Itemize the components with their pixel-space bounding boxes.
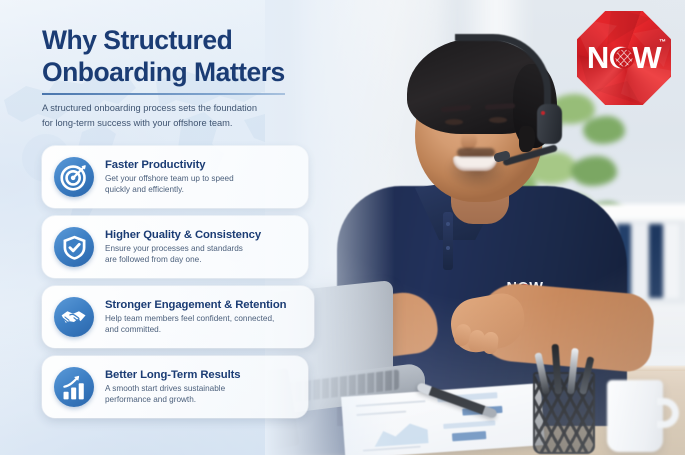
shield-check-icon <box>54 227 94 267</box>
logo-dot <box>614 48 635 69</box>
title-line-1: Why Structured <box>42 24 342 56</box>
subtitle-line-1: A structured onboarding process sets the… <box>42 101 297 116</box>
handshake-icon <box>54 297 94 337</box>
moustache <box>457 148 495 157</box>
title-line-2: Onboarding Matters <box>42 56 342 88</box>
growth-chart-icon <box>54 367 94 407</box>
eye-left <box>445 119 463 125</box>
card-description: Get your offshore team up to speed quick… <box>105 173 300 195</box>
title-divider <box>42 93 285 95</box>
page-title: Why Structured Onboarding Matters <box>42 24 342 88</box>
now-logo-badge[interactable]: NOW ™ <box>577 11 671 105</box>
target-icon <box>54 157 94 197</box>
card-text: Stronger Engagement & Retention Help tea… <box>105 299 314 336</box>
card-desc-line-2: are followed from day one. <box>105 254 300 265</box>
card-title: Better Long-Term Results <box>105 369 300 382</box>
smile <box>453 156 497 171</box>
subtitle-line-2: for long-term success with your offshore… <box>42 116 297 131</box>
card-description: Help team members feel confident, connec… <box>105 313 306 335</box>
card-desc-line-2: quickly and efficiently. <box>105 184 300 195</box>
coffee-mug <box>607 380 663 452</box>
subtitle: A structured onboarding process sets the… <box>42 101 297 130</box>
shirt-placket <box>443 212 453 270</box>
card-title: Higher Quality & Consistency <box>105 229 300 242</box>
card-description: Ensure your processes and standards are … <box>105 243 300 265</box>
card-desc-line-1: Ensure your processes and standards <box>105 243 300 254</box>
trademark-symbol: ™ <box>659 39 666 46</box>
card-desc-line-1: Get your offshore team up to speed <box>105 173 300 184</box>
infographic-canvas: NOW OFFSHORE SUPPORT <box>0 0 685 455</box>
logo-wordmark: NOW <box>577 43 671 73</box>
card-title: Stronger Engagement & Retention <box>105 299 306 312</box>
content-column: Why Structured Onboarding Matters A stru… <box>0 0 360 455</box>
card-desc-line-1: A smooth start drives sustainable <box>105 383 300 394</box>
eye-right <box>489 117 507 123</box>
card-text: Higher Quality & Consistency Ensure your… <box>105 229 308 266</box>
shirt-button <box>446 246 450 250</box>
benefit-card-better-results[interactable]: Better Long-Term Results A smooth start … <box>42 356 308 418</box>
headset-earcup <box>537 104 562 144</box>
card-desc-line-2: and committed. <box>105 324 306 335</box>
sideburn <box>519 126 535 152</box>
headset-band <box>455 34 551 114</box>
card-text: Faster Productivity Get your offshore te… <box>105 159 308 196</box>
benefit-card-higher-quality[interactable]: Higher Quality & Consistency Ensure your… <box>42 216 308 278</box>
benefit-card-stronger-engagement[interactable]: Stronger Engagement & Retention Help tea… <box>42 286 314 348</box>
pen-holder <box>533 372 595 454</box>
card-desc-line-2: performance and growth. <box>105 394 300 405</box>
benefit-card-faster-productivity[interactable]: Faster Productivity Get your offshore te… <box>42 146 308 208</box>
shirt-button <box>446 222 450 226</box>
card-text: Better Long-Term Results A smooth start … <box>105 369 308 406</box>
card-title: Faster Productivity <box>105 159 300 172</box>
card-desc-line-1: Help team members feel confident, connec… <box>105 313 306 324</box>
card-description: A smooth start drives sustainable perfor… <box>105 383 300 405</box>
